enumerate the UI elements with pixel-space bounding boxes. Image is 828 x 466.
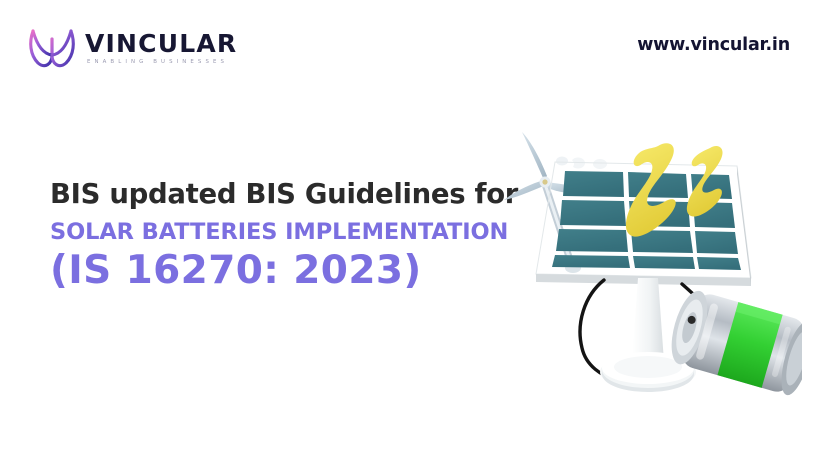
logo-text-block: VINCULAR ENABLING BUSINESSES <box>85 29 237 65</box>
vincular-butterfly-icon <box>26 22 78 72</box>
headline-line-2: SOLAR BATTERIES IMPLEMENTATION <box>50 219 520 246</box>
headline-block: BIS updated BIS Guidelines for SOLAR BAT… <box>50 178 520 294</box>
brand-logo[interactable]: VINCULAR ENABLING BUSINESSES <box>26 22 237 72</box>
headline-line-1: BIS updated BIS Guidelines for <box>50 178 520 210</box>
page-header: VINCULAR ENABLING BUSINESSES www.vincula… <box>0 0 828 100</box>
headline-line-3: (IS 16270: 2023) <box>50 249 520 294</box>
website-url[interactable]: www.vincular.in <box>637 35 790 55</box>
logo-tagline: ENABLING BUSINESSES <box>85 60 237 65</box>
solar-panel-battery-illustration <box>492 118 802 408</box>
logo-wordmark: VINCULAR <box>85 31 237 56</box>
